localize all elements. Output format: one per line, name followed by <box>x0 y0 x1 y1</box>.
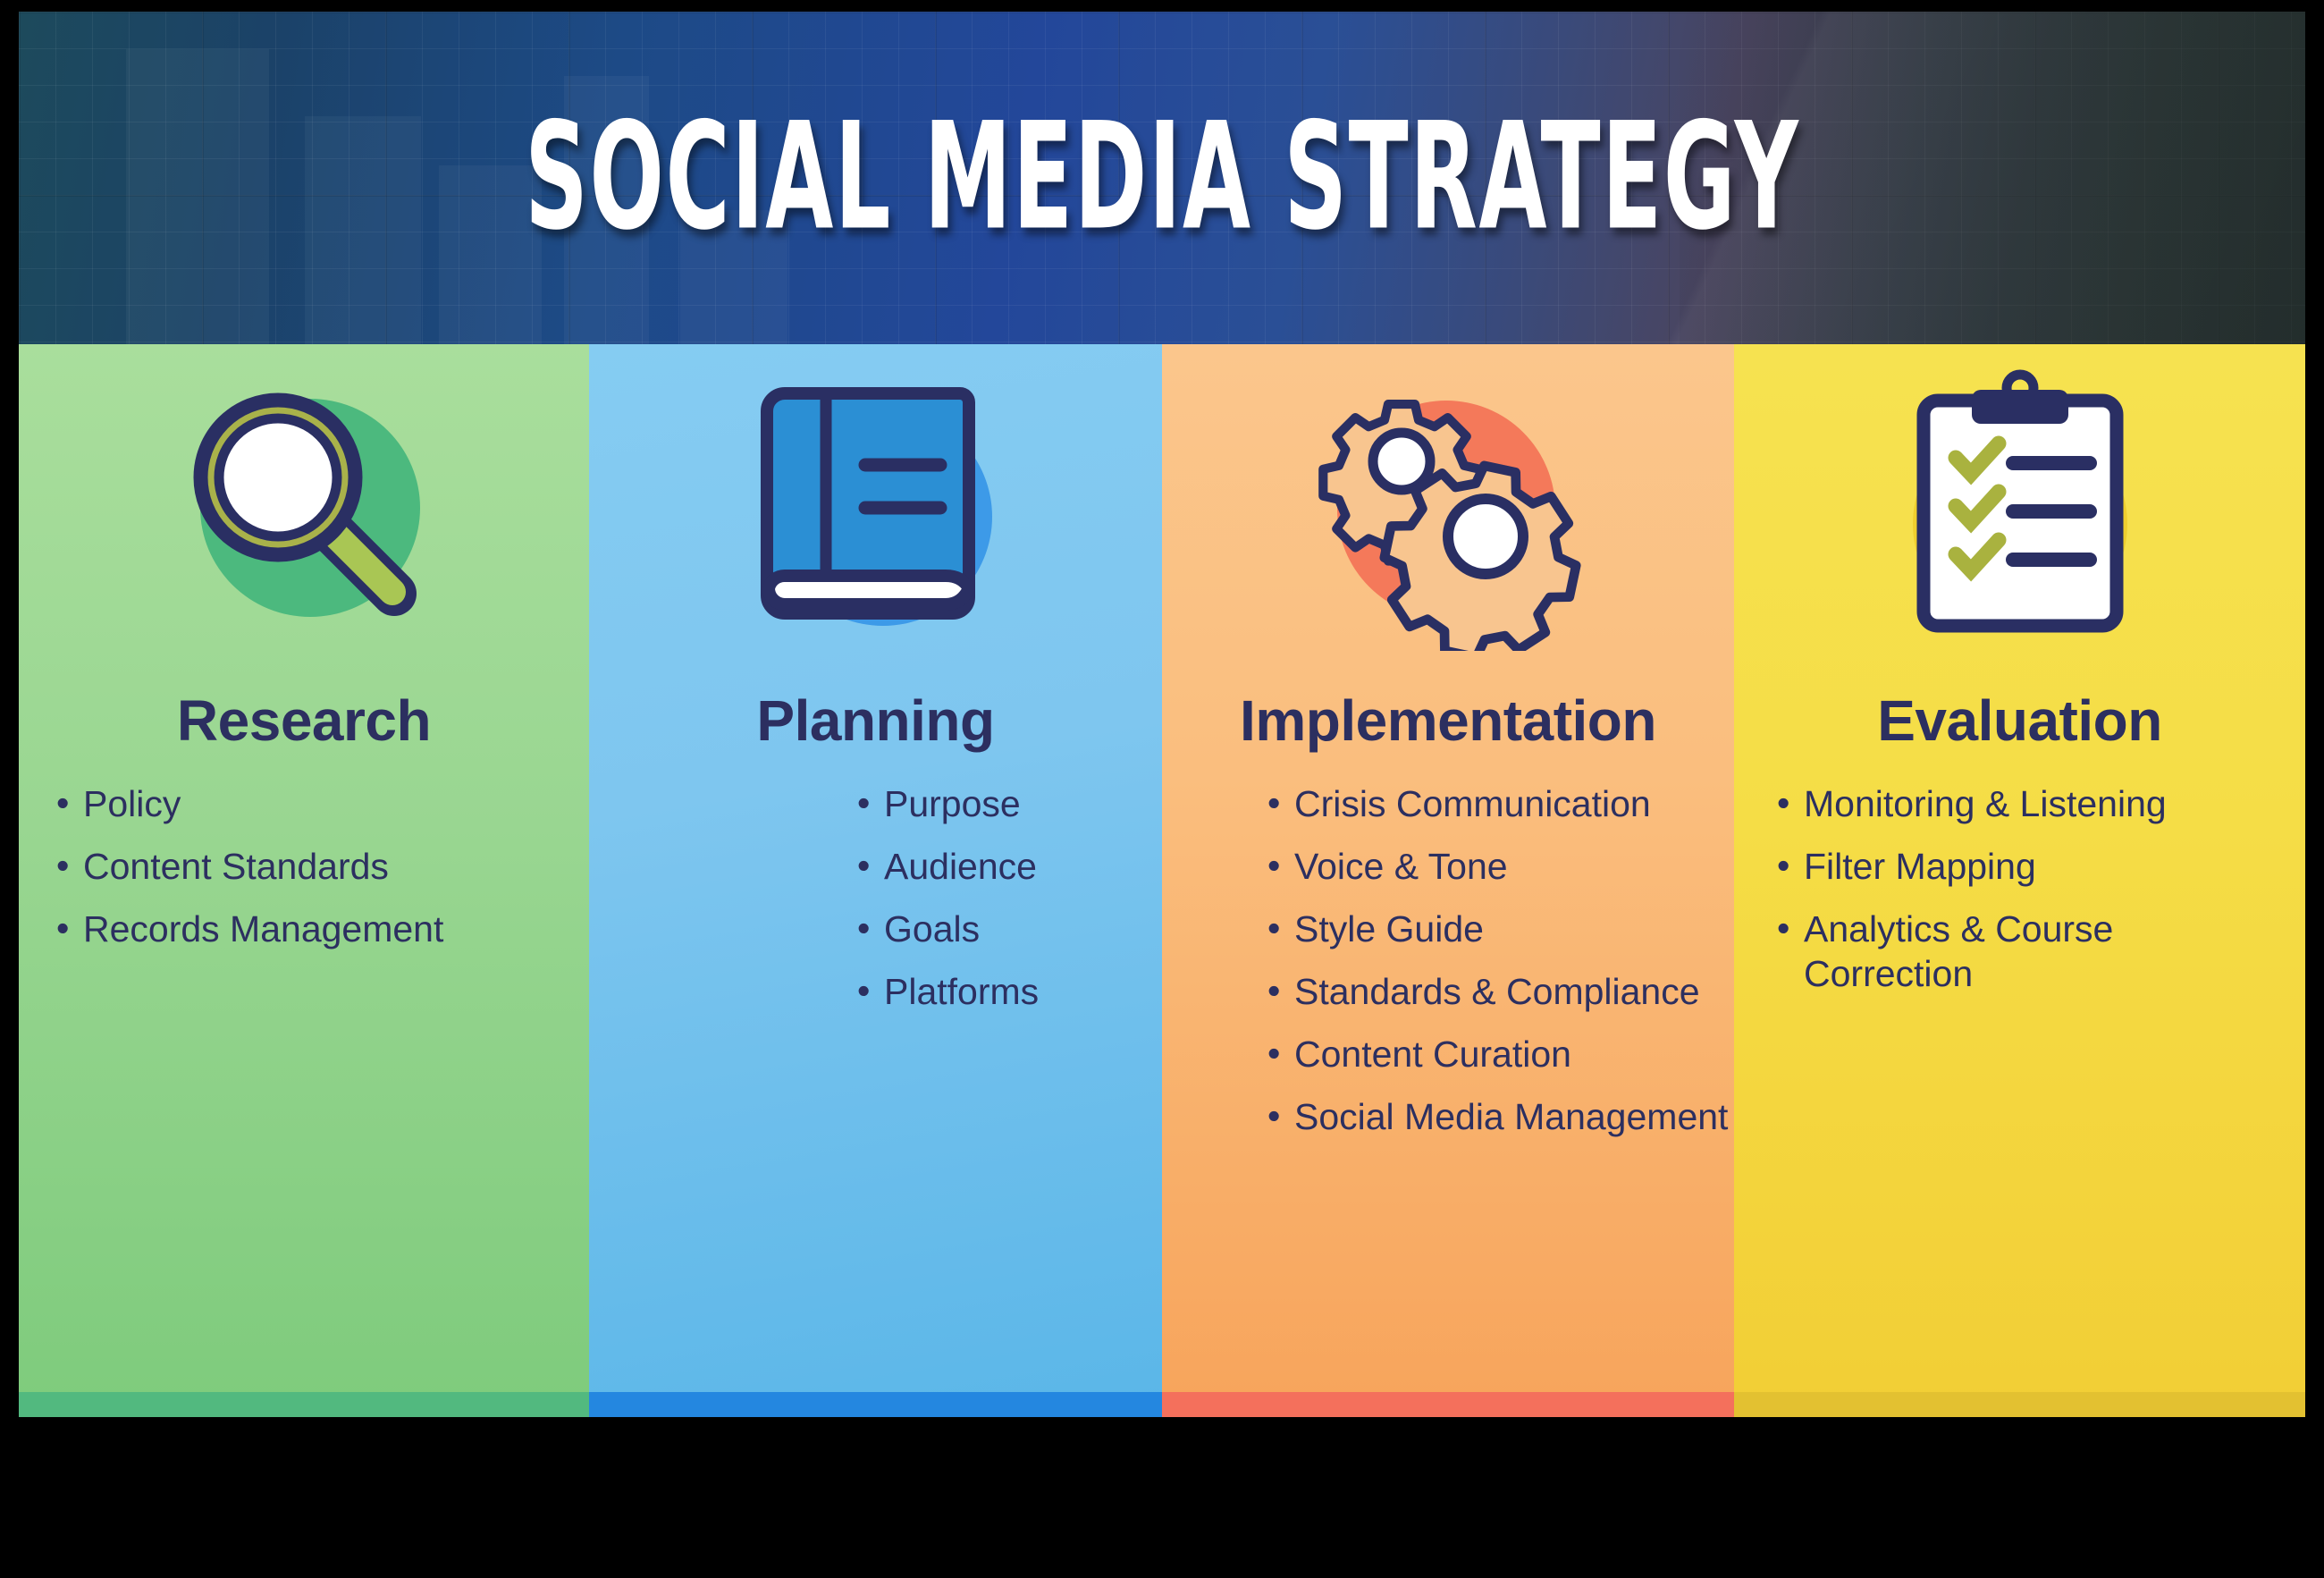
list-item: Filter Mapping <box>1777 844 2269 889</box>
infographic-poster: SOCIAL MEDIA STRATEGY Research Pol <box>19 12 2305 1417</box>
list-item: Content Standards <box>56 844 443 889</box>
research-bullet-list: Policy Content Standards Records Managem… <box>56 781 443 969</box>
list-item: Analytics & Course Correction <box>1777 907 2269 996</box>
implementation-bullet-list: Crisis Communication Voice & Tone Style … <box>1267 781 1728 1157</box>
list-item: Standards & Compliance <box>1267 969 1728 1014</box>
planning-icon-area <box>589 360 1162 655</box>
list-item: Voice & Tone <box>1267 844 1728 889</box>
book-icon <box>733 365 1019 651</box>
implementation-accent-bar <box>1162 1392 1734 1417</box>
column-title-research: Research <box>177 691 431 751</box>
list-item: Goals <box>857 907 1039 951</box>
list-item: Style Guide <box>1267 907 1728 951</box>
research-accent-bar <box>19 1392 589 1417</box>
list-item: Content Curation <box>1267 1032 1728 1076</box>
list-item: Audience <box>857 844 1039 889</box>
list-item: Policy <box>56 781 443 826</box>
implementation-icon-area <box>1162 360 1734 655</box>
column-implementation[interactable]: Implementation Crisis Communication Voic… <box>1162 344 1734 1417</box>
list-item: Social Media Management <box>1267 1094 1728 1139</box>
evaluation-bullet-list: Monitoring & Listening Filter Mapping An… <box>1777 781 2269 1014</box>
column-title-planning: Planning <box>756 691 994 751</box>
planning-accent-bar <box>589 1392 1162 1417</box>
column-title-evaluation: Evaluation <box>1877 691 2162 751</box>
list-item: Monitoring & Listening <box>1777 781 2269 826</box>
planning-bullet-list: Purpose Audience Goals Platforms <box>857 781 1039 1032</box>
column-planning[interactable]: Planning Purpose Audience Goals Platform… <box>589 344 1162 1417</box>
gears-icon <box>1296 365 1600 651</box>
research-icon-area <box>19 360 589 655</box>
list-item: Platforms <box>857 969 1039 1014</box>
strategy-columns: Research Policy Content Standards Record… <box>19 344 2305 1417</box>
evaluation-icon-area <box>1734 360 2305 655</box>
clipboard-checklist-icon <box>1877 365 2163 651</box>
page-title-text: SOCIAL MEDIA STRATEGY <box>525 104 1799 251</box>
magnifying-glass-icon <box>156 365 451 651</box>
column-title-implementation: Implementation <box>1240 691 1656 751</box>
evaluation-accent-bar <box>1734 1392 2305 1417</box>
page-title: SOCIAL MEDIA STRATEGY <box>19 115 2305 240</box>
column-research[interactable]: Research Policy Content Standards Record… <box>19 344 589 1417</box>
list-item: Records Management <box>56 907 443 951</box>
poster-header: SOCIAL MEDIA STRATEGY <box>19 12 2305 344</box>
list-item: Purpose <box>857 781 1039 826</box>
column-evaluation[interactable]: Evaluation Monitoring & Listening Filter… <box>1734 344 2305 1417</box>
list-item: Crisis Communication <box>1267 781 1728 826</box>
